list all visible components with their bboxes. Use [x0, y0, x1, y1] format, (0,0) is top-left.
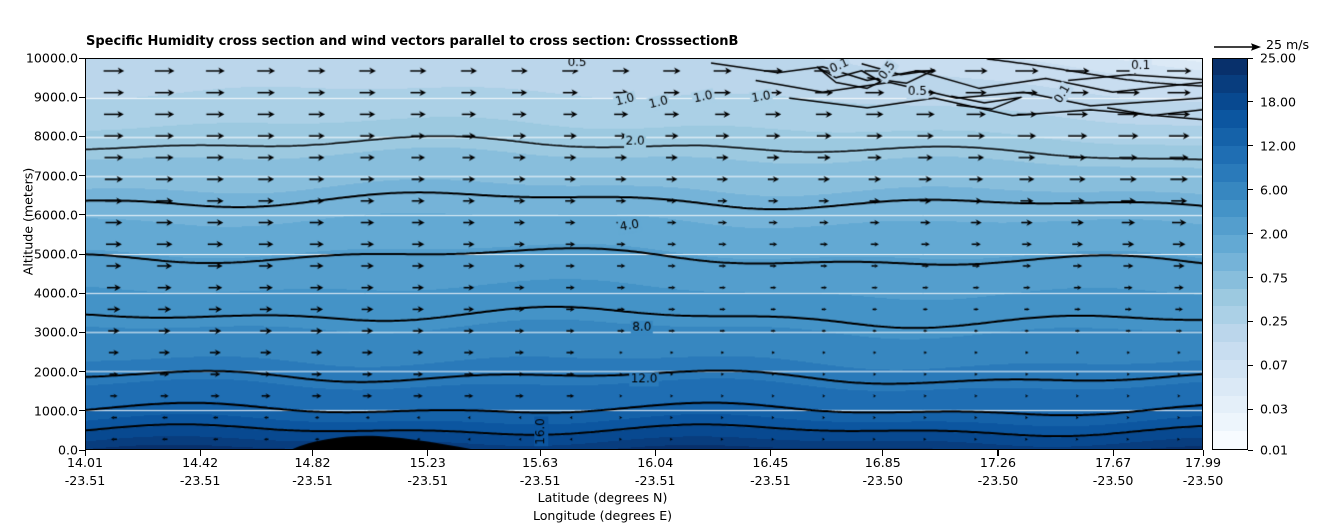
y-axis-tick-labels: 10000.09000.08000.07000.06000.05000.0400…	[0, 0, 78, 526]
colorbar-tick-mark	[1248, 145, 1253, 146]
arrow-right-icon	[1214, 40, 1262, 54]
y-tick-mark	[79, 214, 85, 215]
colorbar-band	[1213, 430, 1247, 449]
x-tick-latitude: 16.45	[750, 454, 791, 472]
x-tick-label: 16.45-23.51	[750, 454, 791, 489]
x-tick-longitude: -23.51	[750, 472, 791, 490]
x-tick-label: 17.99-23.50	[1183, 454, 1224, 489]
x-tick-longitude: -23.50	[1093, 472, 1134, 490]
x-tick-mark	[882, 450, 883, 456]
y-tick-mark	[79, 410, 85, 411]
y-tick-mark	[79, 293, 85, 294]
x-tick-mark	[540, 450, 541, 456]
colorbar-tick-mark	[1248, 321, 1253, 322]
colorbar-band	[1213, 199, 1247, 218]
y-tick-label: 1000.0	[34, 403, 78, 418]
figure-canvas: Specific Humidity cross section and wind…	[0, 0, 1326, 526]
cross-section-field	[86, 59, 1202, 449]
x-tick-label: 15.23-23.51	[407, 454, 448, 489]
y-tick-label: 3000.0	[34, 325, 78, 340]
x-tick-latitude: 14.42	[180, 454, 221, 472]
x-tick-longitude: -23.50	[1183, 472, 1224, 490]
title-line-1: Specific Humidity cross section and wind…	[86, 35, 1186, 50]
x-tick-label: 17.26-23.50	[978, 454, 1019, 489]
x-tick-latitude: 16.04	[635, 454, 676, 472]
colorbar-band	[1213, 217, 1247, 236]
x-tick-latitude: 17.67	[1093, 454, 1134, 472]
y-tick-mark	[79, 332, 85, 333]
x-tick-mark	[85, 450, 86, 456]
y-tick-label: 5000.0	[34, 247, 78, 262]
colorbar-band	[1213, 413, 1247, 432]
x-tick-longitude: -23.51	[407, 472, 448, 490]
y-axis-title: Altitude (meters)	[21, 42, 36, 402]
y-tick-mark	[79, 254, 85, 255]
x-tick-mark	[655, 450, 656, 456]
x-tick-mark	[770, 450, 771, 456]
colorbar-band	[1213, 270, 1247, 289]
x-tick-longitude: -23.50	[978, 472, 1019, 490]
colorbar-tick-label: 2.00	[1260, 226, 1288, 241]
colorbar-tick-label: 0.03	[1260, 402, 1288, 417]
x-tick-label: 15.63-23.51	[520, 454, 561, 489]
x-tick-longitude: -23.51	[520, 472, 561, 490]
colorbar-band	[1213, 145, 1247, 164]
x-tick-label: 16.85-23.50	[862, 454, 903, 489]
x-tick-mark	[1113, 450, 1114, 456]
x-tick-label: 14.82-23.51	[292, 454, 333, 489]
colorbar-tick-mark	[1248, 409, 1253, 410]
x-tick-latitude: 15.23	[407, 454, 448, 472]
colorbar-band	[1213, 92, 1247, 111]
x-tick-latitude: 16.85	[862, 454, 903, 472]
y-tick-label: 9000.0	[34, 90, 78, 105]
x-tick-latitude: 14.01	[65, 454, 106, 472]
colorbar-band	[1213, 341, 1247, 360]
x-tick-longitude: -23.51	[292, 472, 333, 490]
colorbar-tick-label: 0.07	[1260, 358, 1288, 373]
x-tick-longitude: -23.51	[635, 472, 676, 490]
colorbar-tick-mark	[1248, 233, 1253, 234]
colorbar	[1212, 58, 1248, 450]
colorbar-band	[1213, 359, 1247, 378]
colorbar-tick-label: 0.75	[1260, 270, 1288, 285]
x-tick-mark	[312, 450, 313, 456]
x-axis-title-latitude: Latitude (degrees N)	[0, 489, 1205, 507]
x-axis-title-longitude: Longitude (degrees E)	[0, 507, 1205, 525]
colorbar-tick-label: 0.25	[1260, 314, 1288, 329]
colorbar-band	[1213, 306, 1247, 325]
x-tick-label: 14.01-23.51	[65, 454, 106, 489]
colorbar-tick-mark	[1248, 58, 1253, 59]
x-axis-title: Latitude (degrees N)Longitude (degrees E…	[0, 489, 1205, 524]
x-tick-mark	[427, 450, 428, 456]
colorbar-band	[1213, 74, 1247, 93]
y-tick-label: 2000.0	[34, 364, 78, 379]
x-tick-mark	[200, 450, 201, 456]
x-tick-longitude: -23.50	[862, 472, 903, 490]
colorbar-tick-mark	[1248, 101, 1253, 102]
colorbar-tick-mark	[1248, 189, 1253, 190]
colorbar-band	[1213, 234, 1247, 253]
y-tick-mark	[79, 371, 85, 372]
colorbar-tick-mark	[1248, 450, 1253, 451]
colorbar-band	[1213, 58, 1247, 75]
x-tick-longitude: -23.51	[180, 472, 221, 490]
y-tick-mark	[79, 175, 85, 176]
x-tick-label: 14.42-23.51	[180, 454, 221, 489]
colorbar-tick-label: 18.00	[1260, 94, 1296, 109]
colorbar-tick-label: 12.00	[1260, 138, 1296, 153]
colorbar-band	[1213, 324, 1247, 343]
x-tick-label: 16.04-23.51	[635, 454, 676, 489]
x-tick-mark	[1203, 450, 1204, 456]
y-tick-mark	[79, 136, 85, 137]
colorbar-tick-label: 0.01	[1260, 443, 1288, 458]
colorbar-band	[1213, 110, 1247, 129]
colorbar-tick-label: 25.00	[1260, 51, 1296, 66]
colorbar-band	[1213, 163, 1247, 182]
y-tick-label: 7000.0	[34, 168, 78, 183]
x-tick-longitude: -23.51	[65, 472, 106, 490]
plot-axes	[85, 58, 1203, 450]
colorbar-band	[1213, 395, 1247, 414]
colorbar-band	[1213, 252, 1247, 271]
y-tick-label: 6000.0	[34, 207, 78, 222]
x-tick-latitude: 15.63	[520, 454, 561, 472]
colorbar-band	[1213, 377, 1247, 396]
colorbar-tick-label: 6.00	[1260, 182, 1288, 197]
colorbar-tick-mark	[1248, 365, 1253, 366]
y-tick-mark	[79, 58, 85, 59]
x-tick-mark	[997, 450, 998, 456]
y-tick-label: 4000.0	[34, 286, 78, 301]
y-tick-label: 8000.0	[34, 129, 78, 144]
colorbar-tick-labels: 25.0018.0012.006.002.000.750.250.070.030…	[1252, 58, 1314, 450]
colorbar-band	[1213, 288, 1247, 307]
x-tick-latitude: 17.26	[978, 454, 1019, 472]
x-tick-latitude: 14.82	[292, 454, 333, 472]
colorbar-band	[1213, 181, 1247, 200]
y-tick-mark	[79, 97, 85, 98]
x-tick-label: 17.67-23.50	[1093, 454, 1134, 489]
x-tick-latitude: 17.99	[1183, 454, 1224, 472]
colorbar-band	[1213, 128, 1247, 147]
colorbar-tick-mark	[1248, 277, 1253, 278]
